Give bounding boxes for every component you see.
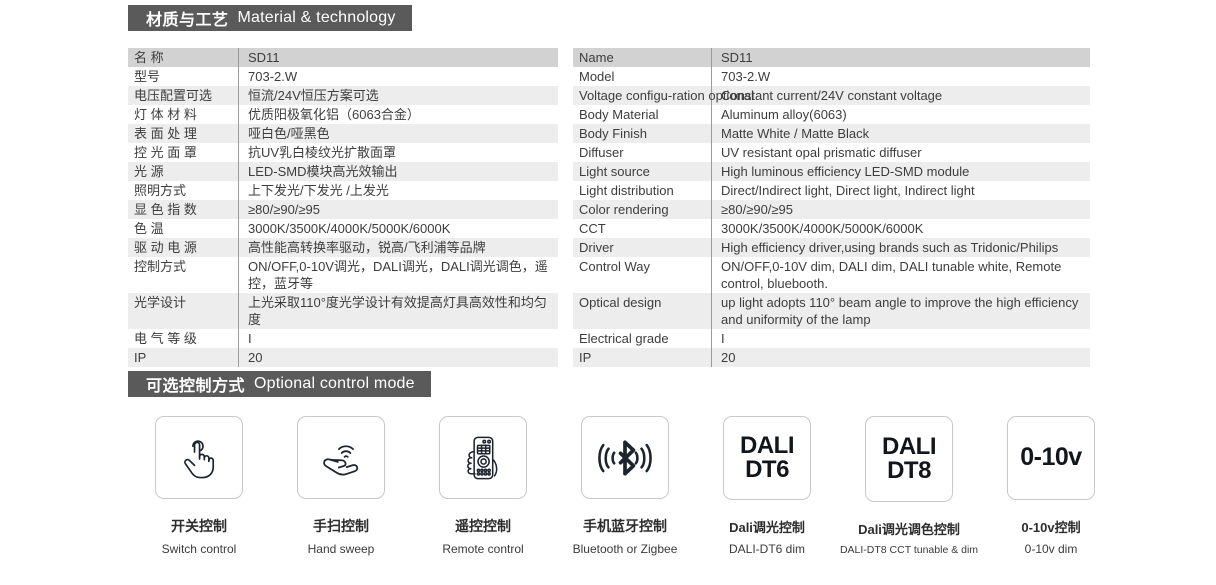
spec-row-value: I: [712, 329, 1091, 348]
spec-row-key: Color rendering: [573, 200, 712, 219]
spec-row-key: 名 称: [128, 48, 239, 67]
spec-row-key: IP: [573, 348, 712, 367]
spec-row-value: 哑白色/哑黑色: [239, 124, 559, 143]
spec-row-key: Driver: [573, 238, 712, 257]
spec-value-text: I: [248, 331, 252, 346]
spec-row-key: Optical design: [573, 293, 712, 329]
spec-value-text: 高性能高转换率驱动，锐高/飞利浦等品牌: [248, 240, 486, 255]
spec-row: 显 色 指 数≥80/≥90/≥95: [128, 200, 558, 219]
spec-row-key: 控制方式: [128, 257, 239, 293]
spec-table-chinese-body: 名 称SD11型号703-2.W电压配置可选恒流/24V恒压方案可选灯 体 材 …: [128, 48, 558, 367]
spec-row-key: 电 气 等 级: [128, 329, 239, 348]
spec-value-text: High luminous efficiency LED-SMD module: [721, 164, 969, 179]
spec-key-text: Driver: [579, 240, 614, 255]
spec-row-value: up light adopts 110° beam angle to impro…: [712, 293, 1091, 329]
spec-key-text: Optical design: [579, 295, 661, 310]
control-mode-label-cn: 开关控制: [171, 516, 227, 536]
spec-key-text: 照明方式: [134, 183, 186, 198]
spec-key-text: IP: [134, 350, 146, 365]
spec-row: 灯 体 材 料优质阳极氧化铝（6063合金）: [128, 105, 558, 124]
spec-value-text: ≥80/≥90/≥95: [248, 202, 320, 217]
control-mode-box-text: 0-10v: [1020, 445, 1081, 471]
spec-row-value: 703-2.W: [712, 67, 1091, 86]
dali-dt8-icon[interactable]: DALI DT8: [865, 416, 953, 502]
spec-table-english: NameSD11Model703-2.WVoltage configu-rati…: [573, 48, 1090, 367]
spec-row: IP20: [573, 348, 1090, 367]
section-banner-material: 材质与工艺 Material & technology: [128, 5, 412, 31]
control-mode-item[interactable]: 遥控控制Remote control: [412, 416, 554, 556]
hand-sweep-icon[interactable]: [297, 416, 385, 499]
spec-row-value: 恒流/24V恒压方案可选: [239, 86, 559, 105]
spec-row: Color rendering≥80/≥90/≥95: [573, 200, 1090, 219]
spec-row: Model703-2.W: [573, 67, 1090, 86]
spec-row: 电 气 等 级I: [128, 329, 558, 348]
spec-row-key: 光 源: [128, 162, 239, 181]
spec-row-value: ≥80/≥90/≥95: [239, 200, 559, 219]
control-mode-item[interactable]: 0-10v0-10v控制0-10v dim: [980, 416, 1122, 556]
control-mode-item[interactable]: 开关控制Switch control: [128, 416, 270, 556]
spec-row-key: Model: [573, 67, 712, 86]
spec-row-key: IP: [128, 348, 239, 367]
spec-row: 电压配置可选恒流/24V恒压方案可选: [128, 86, 558, 105]
spec-value-text: ON/OFF,0-10V dim, DALI dim, DALI tunable…: [721, 259, 1061, 291]
spec-row-key: Light source: [573, 162, 712, 181]
spec-row-value: 3000K/3500K/4000K/5000K/6000K: [239, 219, 559, 238]
spec-table-chinese: 名 称SD11型号703-2.W电压配置可选恒流/24V恒压方案可选灯 体 材 …: [128, 48, 558, 367]
spec-row-key: 电压配置可选: [128, 86, 239, 105]
spec-key-text: 电 气 等 级: [134, 331, 197, 346]
spec-key-text: 控 光 面 罩: [134, 145, 197, 160]
spec-key-text: IP: [579, 350, 591, 365]
spec-row-value: UV resistant opal prismatic diffuser: [712, 143, 1091, 162]
spec-row-value: ON/OFF,0-10V调光，DALI调光，DALI调光调色，遥控，蓝牙等: [239, 257, 559, 293]
spec-value-text: 20: [248, 350, 262, 365]
hand-tap-icon[interactable]: [155, 416, 243, 499]
spec-value-text: UV resistant opal prismatic diffuser: [721, 145, 922, 160]
spec-row: 名 称SD11: [128, 48, 558, 67]
spec-row-value: 703-2.W: [239, 67, 559, 86]
spec-key-text: 型号: [134, 69, 160, 84]
control-mode-label-en: Remote control: [442, 542, 523, 556]
spec-value-text: 上下发光/下发光 /上发光: [248, 183, 389, 198]
spec-row-key: 光学设计: [128, 293, 239, 329]
spec-row-key: Electrical grade: [573, 329, 712, 348]
control-mode-label-en: Bluetooth or Zigbee: [573, 542, 678, 556]
control-mode-label-en: DALI-DT6 dim: [729, 542, 805, 556]
control-mode-label-cn: 手机蓝牙控制: [583, 516, 667, 536]
spec-value-text: LED-SMD模块高光效输出: [248, 164, 398, 179]
spec-row: 表 面 处 理哑白色/哑黑色: [128, 124, 558, 143]
spec-row: Body MaterialAluminum alloy(6063): [573, 105, 1090, 124]
spec-key-text: Electrical grade: [579, 331, 669, 346]
spec-row: 光 源LED-SMD模块高光效输出: [128, 162, 558, 181]
spec-key-text: Color rendering: [579, 202, 669, 217]
control-mode-item[interactable]: DALI DT6Dali调光控制DALI-DT6 dim: [696, 416, 838, 556]
spec-row: Electrical gradeI: [573, 329, 1090, 348]
spec-row-value: LED-SMD模块高光效输出: [239, 162, 559, 181]
control-mode-label-en: DALI-DT8 CCT tunable & dim: [840, 544, 978, 556]
spec-value-text: SD11: [248, 50, 280, 65]
spec-key-text: 光学设计: [134, 295, 186, 310]
spec-row-value: Direct/Indirect light, Direct light, Ind…: [712, 181, 1091, 200]
spec-row-key: Body Finish: [573, 124, 712, 143]
spec-row-value: I: [239, 329, 559, 348]
control-mode-item[interactable]: 手机蓝牙控制Bluetooth or Zigbee: [554, 416, 696, 556]
spec-key-text: Light distribution: [579, 183, 674, 198]
spec-value-text: up light adopts 110° beam angle to impro…: [721, 295, 1078, 327]
spec-row-key: 驱 动 电 源: [128, 238, 239, 257]
spec-row-key: Light distribution: [573, 181, 712, 200]
spec-key-text: Light source: [579, 164, 650, 179]
spec-row-value: High luminous efficiency LED-SMD module: [712, 162, 1091, 181]
spec-row-value: High efficiency driver,using brands such…: [712, 238, 1091, 257]
control-mode-list: 开关控制Switch control 手扫控制Hand sweep 遥控控制Re…: [128, 416, 1128, 556]
spec-key-text: 电压配置可选: [134, 88, 212, 103]
spec-row-value: Constant current/24V constant voltage: [712, 86, 1091, 105]
banner-control-title-cn: 可选控制方式: [146, 372, 245, 396]
control-mode-label-cn: 手扫控制: [313, 516, 369, 536]
spec-row-key: 显 色 指 数: [128, 200, 239, 219]
section-banner-control: 可选控制方式 Optional control mode: [128, 371, 431, 397]
spec-key-text: 表 面 处 理: [134, 126, 197, 141]
spec-value-text: 3000K/3500K/4000K/5000K/6000K: [248, 221, 450, 236]
spec-row-value: 20: [239, 348, 559, 367]
spec-row-value: SD11: [712, 48, 1091, 67]
spec-value-text: Matte White / Matte Black: [721, 126, 869, 141]
spec-row: Control WayON/OFF,0-10V dim, DALI dim, D…: [573, 257, 1090, 293]
spec-row-key: 照明方式: [128, 181, 239, 200]
spec-row-value: Matte White / Matte Black: [712, 124, 1091, 143]
spec-key-text: Name: [579, 50, 614, 65]
spec-row: Light sourceHigh luminous efficiency LED…: [573, 162, 1090, 181]
spec-key-text: Body Material: [579, 107, 658, 122]
spec-key-text: 灯 体 材 料: [134, 107, 197, 122]
spec-value-text: High efficiency driver,using brands such…: [721, 240, 1058, 255]
spec-row: 驱 动 电 源高性能高转换率驱动，锐高/飞利浦等品牌: [128, 238, 558, 257]
spec-key-text: Diffuser: [579, 145, 624, 160]
spec-row: 色 温3000K/3500K/4000K/5000K/6000K: [128, 219, 558, 238]
spec-row: Light distributionDirect/Indirect light,…: [573, 181, 1090, 200]
spec-value-text: 上光采取110°度光学设计有效提高灯具高效性和均匀度: [248, 295, 547, 327]
spec-row-key: 灯 体 材 料: [128, 105, 239, 124]
spec-value-text: ≥80/≥90/≥95: [721, 202, 793, 217]
control-mode-label-cn: 0-10v控制: [1021, 517, 1080, 536]
spec-key-text: Body Finish: [579, 126, 647, 141]
remote-control-icon[interactable]: [439, 416, 527, 499]
spec-key-text: Control Way: [579, 259, 650, 274]
spec-row: CCT3000K/3500K/4000K/5000K/6000K: [573, 219, 1090, 238]
control-mode-box-text: DALI DT6: [740, 434, 794, 483]
control-mode-label-cn: Dali调光控制: [729, 517, 805, 536]
spec-value-text: 抗UV乳白棱纹光扩散面罩: [248, 145, 396, 160]
spec-row-key: Body Material: [573, 105, 712, 124]
control-mode-label-en: 0-10v dim: [1025, 542, 1078, 556]
spec-value-text: Aluminum alloy(6063): [721, 107, 847, 122]
spec-row-value: 3000K/3500K/4000K/5000K/6000K: [712, 219, 1091, 238]
spec-value-text: 703-2.W: [721, 69, 770, 84]
spec-row: NameSD11: [573, 48, 1090, 67]
spec-row-value: ≥80/≥90/≥95: [712, 200, 1091, 219]
zero-to-ten-volt-icon[interactable]: 0-10v: [1007, 416, 1095, 500]
banner-control-title-en: Optional control mode: [254, 375, 415, 393]
spec-row: 照明方式上下发光/下发光 /上发光: [128, 181, 558, 200]
spec-row-key: Voltage configu-ration optional: [573, 86, 712, 105]
dali-dt6-icon[interactable]: DALI DT6: [723, 416, 811, 500]
spec-row-key: Name: [573, 48, 712, 67]
spec-row-value: Aluminum alloy(6063): [712, 105, 1091, 124]
spec-row: IP20: [128, 348, 558, 367]
spec-value-text: 哑白色/哑黑色: [248, 126, 330, 141]
spec-value-text: 703-2.W: [248, 69, 297, 84]
banner-material-title-en: Material & technology: [238, 9, 396, 27]
control-mode-item[interactable]: DALI DT8Dali调光调色控制DALI-DT8 CCT tunable &…: [838, 416, 980, 556]
spec-row-value: 20: [712, 348, 1091, 367]
spec-row: Body FinishMatte White / Matte Black: [573, 124, 1090, 143]
spec-table-english-body: NameSD11Model703-2.WVoltage configu-rati…: [573, 48, 1090, 367]
spec-row-key: 控 光 面 罩: [128, 143, 239, 162]
spec-row: 控制方式ON/OFF,0-10V调光，DALI调光，DALI调光调色，遥控，蓝牙…: [128, 257, 558, 293]
control-mode-label-en: Hand sweep: [308, 542, 375, 556]
spec-value-text: I: [721, 331, 725, 346]
spec-value-text: SD11: [721, 50, 753, 65]
spec-row-value: 上光采取110°度光学设计有效提高灯具高效性和均匀度: [239, 293, 559, 329]
spec-key-text: 控制方式: [134, 259, 186, 274]
spec-row: DiffuserUV resistant opal prismatic diff…: [573, 143, 1090, 162]
spec-row-key: 型号: [128, 67, 239, 86]
spec-value-text: 20: [721, 350, 735, 365]
spec-value-text: 3000K/3500K/4000K/5000K/6000K: [721, 221, 923, 236]
spec-row-value: 高性能高转换率驱动，锐高/飞利浦等品牌: [239, 238, 559, 257]
control-mode-label-cn: 遥控控制: [455, 516, 511, 536]
spec-value-text: ON/OFF,0-10V调光，DALI调光，DALI调光调色，遥控，蓝牙等: [248, 259, 548, 291]
spec-row-value: ON/OFF,0-10V dim, DALI dim, DALI tunable…: [712, 257, 1091, 293]
spec-row: Optical designup light adopts 110° beam …: [573, 293, 1090, 329]
spec-row-value: SD11: [239, 48, 559, 67]
spec-key-text: 驱 动 电 源: [134, 240, 197, 255]
control-mode-box-text: DALI DT8: [882, 435, 936, 484]
spec-value-text: 恒流/24V恒压方案可选: [248, 88, 379, 103]
spec-key-text: 色 温: [134, 221, 164, 236]
spec-row-key: Control Way: [573, 257, 712, 293]
spec-row: 型号703-2.W: [128, 67, 558, 86]
spec-key-text: 名 称: [134, 50, 164, 65]
spec-row: 控 光 面 罩抗UV乳白棱纹光扩散面罩: [128, 143, 558, 162]
spec-row-value: 抗UV乳白棱纹光扩散面罩: [239, 143, 559, 162]
spec-row-key: CCT: [573, 219, 712, 238]
spec-key-text: Model: [579, 69, 614, 84]
control-mode-item[interactable]: 手扫控制Hand sweep: [270, 416, 412, 556]
spec-row: 光学设计上光采取110°度光学设计有效提高灯具高效性和均匀度: [128, 293, 558, 329]
spec-row-key: 表 面 处 理: [128, 124, 239, 143]
spec-row: Voltage configu-ration optionalConstant …: [573, 86, 1090, 105]
spec-row-key: 色 温: [128, 219, 239, 238]
spec-key-text: CCT: [579, 221, 606, 236]
spec-row-value: 上下发光/下发光 /上发光: [239, 181, 559, 200]
banner-material-title-cn: 材质与工艺: [146, 6, 229, 30]
control-mode-label-en: Switch control: [162, 542, 237, 556]
spec-row-value: 优质阳极氧化铝（6063合金）: [239, 105, 559, 124]
spec-key-text: 显 色 指 数: [134, 202, 197, 217]
spec-row-key: Diffuser: [573, 143, 712, 162]
control-mode-label-cn: Dali调光调色控制: [858, 519, 960, 538]
bluetooth-icon[interactable]: [581, 416, 669, 499]
spec-value-text: Constant current/24V constant voltage: [721, 88, 942, 103]
spec-key-text: 光 源: [134, 164, 164, 179]
spec-row: DriverHigh efficiency driver,using brand…: [573, 238, 1090, 257]
spec-value-text: 优质阳极氧化铝（6063合金）: [248, 107, 420, 122]
spec-value-text: Direct/Indirect light, Direct light, Ind…: [721, 183, 975, 198]
